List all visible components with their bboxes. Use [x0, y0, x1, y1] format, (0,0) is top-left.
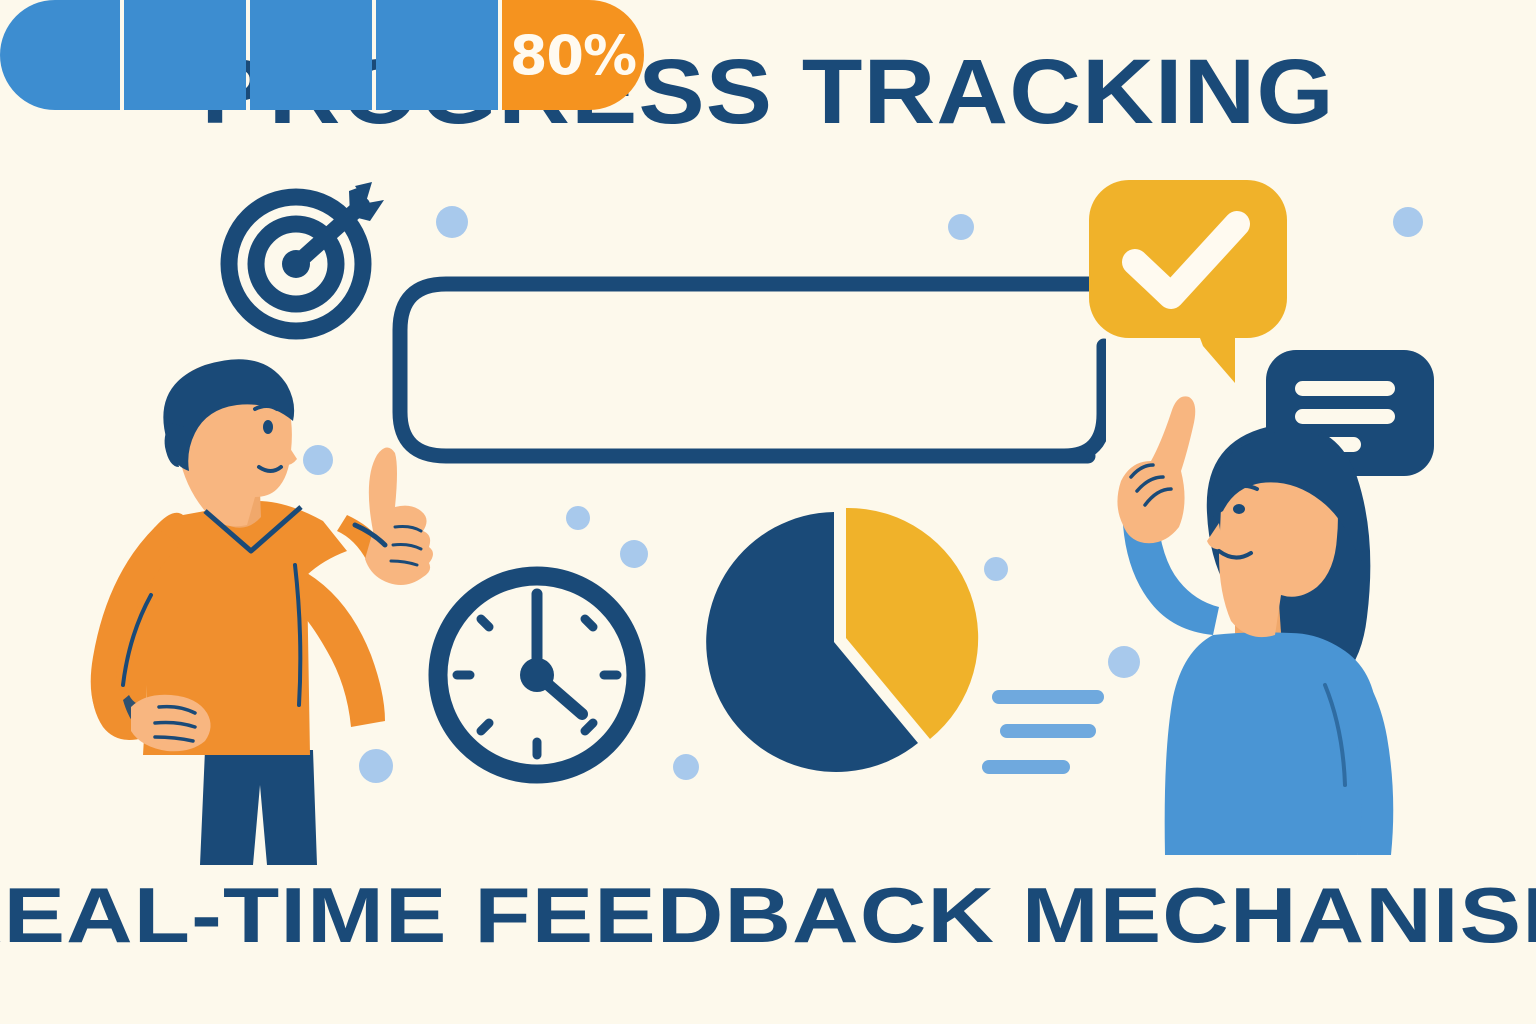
progress-bar-track[interactable]: 80%	[0, 0, 644, 110]
page-title-bottom: REAL-TIME FEEDBACK MECHANISM	[0, 872, 1536, 958]
decor-dot	[984, 557, 1008, 581]
decor-dot	[436, 206, 468, 238]
person-woman-pointing	[1095, 385, 1445, 875]
illustration-canvas: PROGRESS TRACKING 80%	[0, 0, 1536, 1024]
progress-percent-label: 80%	[510, 24, 636, 87]
decor-line	[982, 760, 1070, 774]
decor-dot	[620, 540, 648, 568]
decor-dot	[1393, 207, 1423, 237]
progress-segment-1	[0, 0, 120, 110]
clock-icon	[424, 562, 650, 788]
progress-bar-outline	[388, 272, 1106, 468]
decor-dot	[948, 214, 974, 240]
progress-segment-active: 80%	[502, 0, 644, 110]
decor-line	[992, 690, 1104, 704]
decor-dot	[673, 754, 699, 780]
target-icon	[216, 176, 396, 341]
progress-segment-4	[376, 0, 498, 110]
person-man-pointing	[55, 355, 455, 875]
decor-dot	[566, 506, 590, 530]
decor-line	[1000, 724, 1096, 738]
pie-chart-icon	[696, 500, 986, 785]
progress-segment-2	[124, 0, 246, 110]
progress-segment-3	[250, 0, 372, 110]
